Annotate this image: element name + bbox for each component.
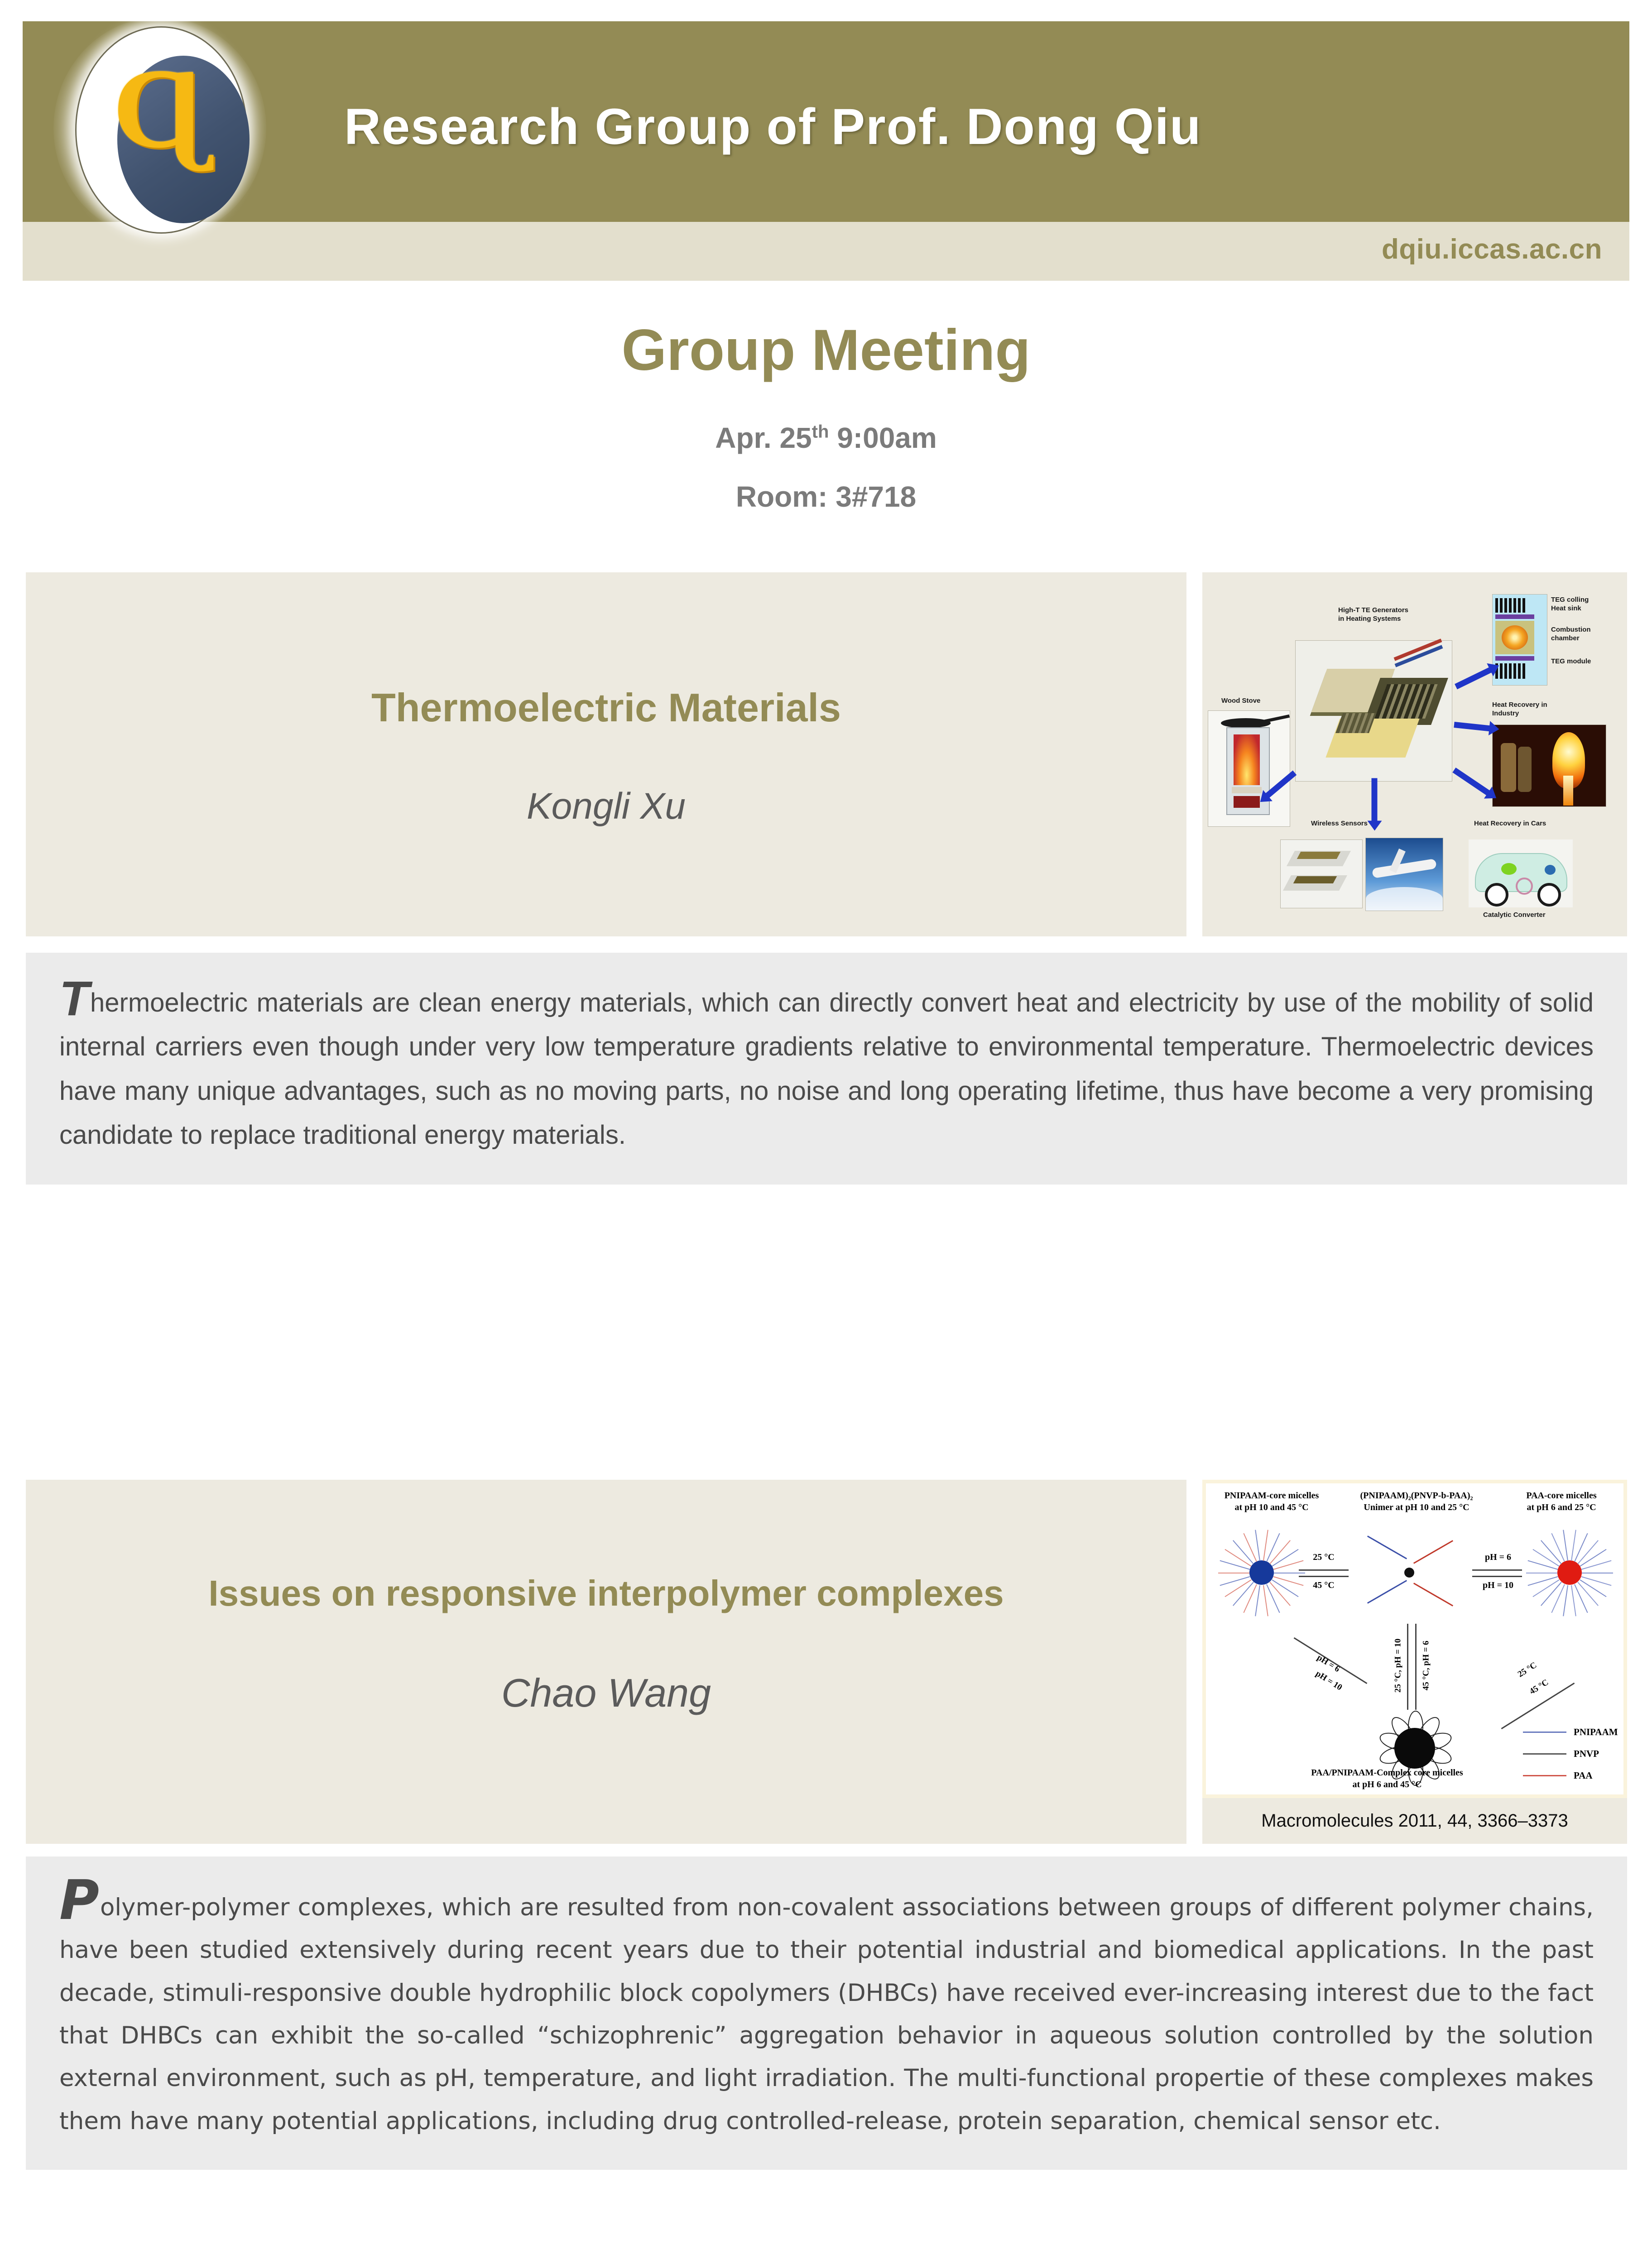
fig2-arrow-tr [1472,1569,1522,1571]
fig2-micelle-spoke [1526,1573,1557,1573]
fig1-label-wood-stove: Wood Stove [1221,697,1260,705]
fig2-micelle-spoke [1233,1582,1254,1606]
talk-1-figure-panel: High-T TE Generatorsin Heating Systems T… [1202,572,1627,936]
fig1-arrow-to-sensors [1372,778,1378,822]
thermoelectric-applications-diagram: High-T TE Generatorsin Heating Systems T… [1202,572,1627,936]
fig1-arrow-to-cars [1452,767,1490,796]
fig1-te-module-photo [1295,640,1452,782]
fig2-micelle-spoke [1574,1533,1588,1562]
fig2-label-left-top: PNIPAAM-core micellesat pH 10 and 45 °C [1210,1490,1333,1513]
fig2-micelle-spoke [1571,1585,1576,1616]
fig2-arrow-tl-back [1299,1576,1349,1577]
logo-monogram-icon: Ɋ [77,51,246,165]
fig1-label-combustion: Combustionchamber [1551,626,1591,643]
fig2-label-arrow-tr-over: pH = 6 [1473,1551,1523,1563]
fig2-micelle-spoke [1541,1582,1562,1606]
fig2-micelle-spoke [1574,1584,1588,1613]
logo-outer-ring: Ɋ [75,26,247,234]
fig2-micelle-spoke [1582,1573,1613,1573]
fig1-industry-photo [1492,724,1606,807]
talk-2-figure-panel: PNIPAAM-core micellesat pH 10 and 45 °C … [1202,1480,1627,1798]
fig1-label-teg-module: TEG module [1551,657,1591,666]
fig1-label-catalytic-converter: Catalytic Converter [1483,911,1546,920]
fig2-micelle-spoke [1255,1530,1260,1561]
fig2-micelle-spoke [1266,1533,1280,1562]
talk-1-dropcap: T [59,971,90,1026]
fig2-label-mid-vert-1: 25 °C, pH = 10 [1393,1622,1404,1708]
fig2-micelle-spoke [1563,1585,1568,1616]
fig2-legend-swatch-pnvp [1523,1753,1566,1755]
talk-2-header-panel: Issues on responsive interpolymer comple… [26,1480,1186,1844]
fig2-micelle-spoke [1551,1584,1565,1613]
fig1-label-heat-recovery-cars: Heat Recovery in Cars [1474,820,1546,828]
fig2-micelle-spoke [1243,1584,1257,1613]
fig2-legend-label-pnvp: PNVP [1574,1748,1627,1760]
fig1-sensor-photo [1280,839,1363,908]
talk-1-speaker: Kongli Xu [26,785,1186,828]
meeting-date-prefix: Apr. 25 [715,422,812,454]
fig2-micelle-spoke [1551,1533,1565,1562]
talk-2-speaker: Chao Wang [26,1670,1186,1716]
fig2-micelle-spoke [1571,1530,1576,1561]
fig2-micelle-spoke [1220,1576,1250,1586]
fig1-car-photo [1469,839,1573,907]
fig1-label-wireless-sensors: Wireless Sensors [1311,820,1368,828]
fig1-label-high-t: High-T TE Generatorsin Heating Systems [1338,606,1474,624]
meeting-date-ordinal: th [812,422,829,442]
fig2-label-right-top: PAA-core micellesat pH 6 and 25 °C [1500,1490,1623,1513]
fig1-label-teg-cooling: TEG collingHeat sink [1551,596,1589,613]
site-url[interactable]: dqiu.iccas.ac.cn [1382,233,1602,265]
fig2-micelle-spoke [1274,1573,1305,1573]
talk-2-dropcap: P [59,1869,100,1932]
fig2-micelle-spoke [1255,1585,1260,1616]
fig2-arrow-tr-back [1472,1576,1522,1577]
talk-2-title: Issues on responsive interpolymer comple… [26,1573,1186,1614]
fig2-micelle-spoke [1272,1549,1298,1567]
fig2-legend-label-pnipaam: PNIPAAM [1574,1726,1627,1738]
fig2-micelle-spoke [1528,1576,1558,1586]
group-logo: Ɋ [53,17,266,239]
talk-1-title: Thermoelectric Materials [26,685,1186,731]
meeting-time: 9:00am [829,422,936,454]
fig2-label-arrow-tr-under: pH = 10 [1473,1579,1523,1591]
meeting-room: Room: 3#718 [0,480,1652,513]
fig2-micelle-spoke [1218,1573,1249,1573]
fig2-label-mid-top: (PNIPAAM)₂(PNVP-b-PAA)₂Unimer at pH 10 a… [1342,1490,1491,1513]
fig1-arrow-to-teg [1455,667,1492,689]
fig2-arrow-mid-vert-a [1407,1624,1408,1710]
fig2-label-mid-vert-2: 45 °C, pH = 6 [1421,1622,1432,1708]
talk-1-abstract: Thermoelectric materials are clean energ… [26,953,1627,1185]
fig2-legend-label-paa: PAA [1574,1770,1627,1782]
fig1-wood-stove-photo [1208,710,1290,827]
fig2-legend-swatch-pnipaam [1523,1732,1566,1733]
talk-2-abstract: Polymer-polymer complexes, which are res… [26,1856,1627,2170]
fig2-micelle-spoke [1263,1585,1268,1616]
meeting-title: Group Meeting [0,317,1652,384]
talk-2-figure-caption: Macromolecules 2011, 44, 3366–3373 [1202,1798,1627,1844]
fig2-micelle-spoke [1580,1549,1606,1567]
fig1-aircraft-photo [1365,838,1443,911]
fig2-micelle-spoke [1243,1533,1257,1562]
fig2-arrow-mid-vert-b [1415,1624,1417,1710]
fig2-micelle-spoke [1563,1530,1568,1561]
fig2-legend-swatch-paa [1523,1775,1566,1776]
talk-1-abstract-text: Thermoelectric materials are clean energ… [59,981,1594,1157]
fig2-label-arrow-tl-over: 25 °C [1301,1551,1346,1563]
fig2-label-arrow-tl-under: 45 °C [1301,1579,1346,1591]
fig2-arrow-tl [1299,1569,1349,1571]
fig1-label-heat-recovery-industry: Heat Recovery inIndustry [1492,701,1547,718]
fig1-arrow-to-industry [1454,722,1490,731]
meeting-datetime: Apr. 25th 9:00am [0,421,1652,455]
talk-2-abstract-text: Polymer-polymer complexes, which are res… [59,1885,1594,2143]
fig2-micelle-spoke [1263,1530,1268,1561]
talk-1-header-panel: Thermoelectric Materials Kongli Xu [26,572,1186,936]
fig2-micelle-spoke [1266,1584,1280,1613]
fig2-label-bottom: PAA/PNIPAAM-Complex core micellesat pH 6… [1260,1767,1514,1790]
page-title: Research Group of Prof. Dong Qiu [344,97,1522,156]
